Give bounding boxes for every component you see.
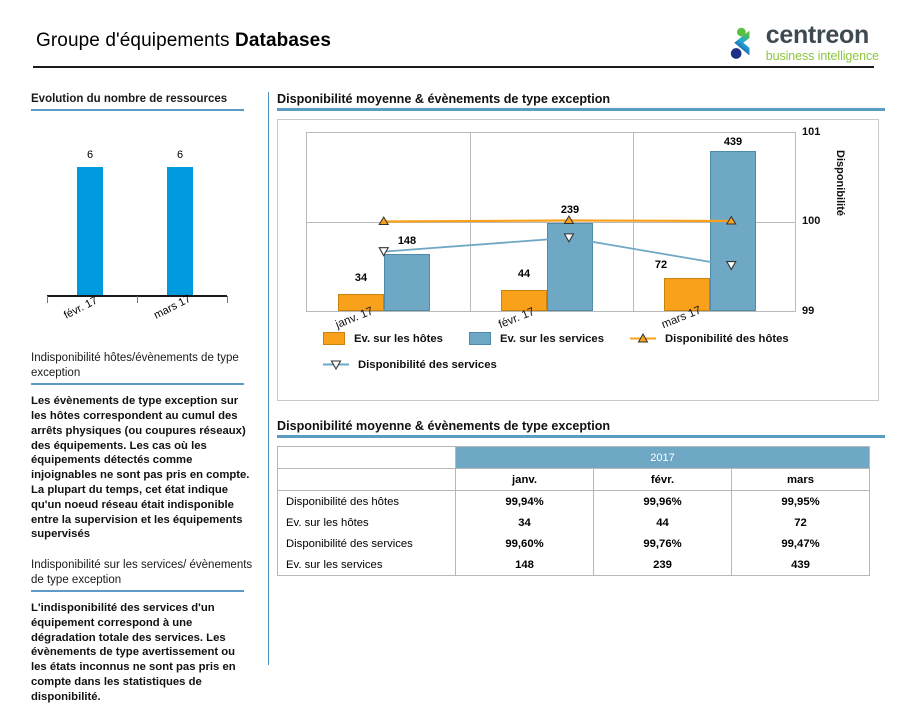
resources-evolution-chart: 6 6 févr. 17 mars 17 xyxy=(0,125,262,335)
chart-section-title: Disponibilité moyenne & évènements de ty… xyxy=(277,92,897,106)
hosts-panel-body: Les évènements de type exception sur les… xyxy=(0,394,262,542)
table-cell: 99,95% xyxy=(732,491,870,513)
table-header-year-row: 2017 xyxy=(278,447,870,469)
legend-label-hosts-availability: Disponibilité des hôtes xyxy=(665,333,789,345)
table-header-month-row: janv. févr. mars xyxy=(278,469,870,491)
bar-hosts-mars xyxy=(664,278,710,311)
table-row: Ev. sur les services 148 239 439 xyxy=(278,554,870,576)
resources-axis-tick xyxy=(47,296,48,303)
legend-marker-triangle-up-icon xyxy=(630,332,656,345)
bar-label-hosts-mars: 72 xyxy=(636,259,686,271)
table-col-mars: mars xyxy=(732,469,870,491)
resources-xlabel-fevr: févr. 17 xyxy=(62,295,100,322)
table-row: Disponibilité des services 99,60% 99,76%… xyxy=(278,533,870,554)
resources-bar-fevr xyxy=(77,167,103,295)
page-title-prefix: Groupe d'équipements xyxy=(36,30,230,51)
header-divider xyxy=(33,66,874,68)
resources-bar-value: 6 xyxy=(160,149,200,161)
legend-label-hosts-events: Ev. sur les hôtes xyxy=(354,333,443,345)
bar-label-services-fevr: 239 xyxy=(545,204,595,216)
table-cell: 99,96% xyxy=(594,491,732,513)
page-title: Groupe d'équipements Databases xyxy=(36,30,331,52)
gridline-category-1 xyxy=(470,133,471,311)
table-year-header: 2017 xyxy=(456,447,870,469)
table-section-title: Disponibilité moyenne & évènements de ty… xyxy=(277,419,897,433)
bar-services-fevr xyxy=(547,223,593,311)
legend-row-2: Disponibilité des services xyxy=(323,358,863,371)
bar-services-mars xyxy=(710,151,756,311)
hosts-panel-heading: Indisponibilité hôtes/évènements de type… xyxy=(0,351,262,380)
table-cell: 99,76% xyxy=(594,533,732,554)
marker-hosts-janv-icon xyxy=(379,217,388,224)
table-cell: 439 xyxy=(732,554,870,576)
legend-marker-triangle-down-icon xyxy=(323,358,349,371)
table-head: 2017 janv. févr. mars xyxy=(278,447,870,491)
legend-item-services-events[interactable]: Ev. sur les services xyxy=(469,332,604,345)
table-row: Ev. sur les hôtes 34 44 72 xyxy=(278,512,870,533)
table-cell: 99,94% xyxy=(456,491,594,513)
table-col-fevr: févr. xyxy=(594,469,732,491)
services-panel-heading: Indisponibilité sur les services/ évènem… xyxy=(0,558,262,587)
table-row-label: Disponibilité des services xyxy=(278,533,456,554)
legend-item-hosts-events[interactable]: Ev. sur les hôtes xyxy=(323,332,443,345)
brand-tagline: business intelligence xyxy=(766,50,879,63)
table-corner-cell xyxy=(278,447,456,469)
table-cell: 99,47% xyxy=(732,533,870,554)
bar-label-services-mars: 439 xyxy=(708,136,758,148)
yaxis-tick-100: 100 xyxy=(802,215,820,227)
table-cell: 99,60% xyxy=(456,533,594,554)
table-body: Disponibilité des hôtes 99,94% 99,96% 99… xyxy=(278,491,870,576)
table-cell: 148 xyxy=(456,554,594,576)
services-panel-underline xyxy=(31,590,244,593)
yaxis-title: Disponibilité xyxy=(834,150,846,216)
sidebar: Evolution du nombre de ressources 6 6 fé… xyxy=(0,92,262,705)
main-content: Disponibilité moyenne & évènements de ty… xyxy=(277,92,897,576)
bar-services-janv xyxy=(384,254,430,311)
legend-swatch-hosts-icon xyxy=(323,332,345,345)
page-header: Groupe d'équipements Databases centreon … xyxy=(0,0,907,72)
resources-xlabel-mars: mars 17 xyxy=(152,293,193,322)
availability-chart-card: 34 148 44 239 72 439 xyxy=(277,119,879,401)
availability-table: 2017 janv. févr. mars Disponibilité des … xyxy=(277,446,870,576)
yaxis-tick-101: 101 xyxy=(802,126,820,138)
bar-label-hosts-fevr: 44 xyxy=(499,268,549,280)
table-cell: 44 xyxy=(594,512,732,533)
legend-row-1: Ev. sur les hôtes Ev. sur les services D… xyxy=(323,332,863,345)
hosts-panel-underline xyxy=(31,383,244,386)
centreon-logo: centreon business intelligence xyxy=(720,20,879,66)
bar-label-services-janv: 148 xyxy=(382,235,432,247)
legend-label-services-events: Ev. sur les services xyxy=(500,333,604,345)
table-cell: 239 xyxy=(594,554,732,576)
brand-wordmark: centreon business intelligence xyxy=(766,23,879,63)
resources-axis-tick xyxy=(137,296,138,303)
legend-item-services-availability[interactable]: Disponibilité des services xyxy=(323,358,497,371)
resources-panel-underline xyxy=(31,109,244,112)
table-cell: 72 xyxy=(732,512,870,533)
table-row-label: Disponibilité des hôtes xyxy=(278,491,456,513)
resources-axis-tick xyxy=(227,296,228,303)
brand-name: centreon xyxy=(766,23,879,48)
page-title-group-name: Databases xyxy=(235,30,331,51)
legend-swatch-services-icon xyxy=(469,332,491,345)
bar-label-hosts-janv: 34 xyxy=(336,272,386,284)
resources-bar-mars xyxy=(167,167,193,295)
resources-bar-value: 6 xyxy=(70,149,110,161)
column-divider xyxy=(268,92,269,665)
gridline-category-2 xyxy=(633,133,634,311)
table-corner-cell-2 xyxy=(278,469,456,491)
legend-label-services-availability: Disponibilité des services xyxy=(358,359,497,371)
chart-legend: Ev. sur les hôtes Ev. sur les services D… xyxy=(323,332,863,384)
table-row: Disponibilité des hôtes 99,94% 99,96% 99… xyxy=(278,491,870,513)
centreon-c-mark-icon xyxy=(720,24,758,62)
chart-section-underline xyxy=(277,108,885,111)
yaxis-tick-99: 99 xyxy=(802,305,814,317)
table-section-underline xyxy=(277,435,885,438)
table-section: Disponibilité moyenne & évènements de ty… xyxy=(277,419,897,576)
resources-panel-heading: Evolution du nombre de ressources xyxy=(0,92,262,107)
table-col-janv: janv. xyxy=(456,469,594,491)
table-row-label: Ev. sur les hôtes xyxy=(278,512,456,533)
legend-item-hosts-availability[interactable]: Disponibilité des hôtes xyxy=(630,332,789,345)
chart-plot-area: 34 148 44 239 72 439 xyxy=(306,132,796,312)
table-row-label: Ev. sur les services xyxy=(278,554,456,576)
table-cell: 34 xyxy=(456,512,594,533)
services-panel-body: L'indisponibilité des services d'un équi… xyxy=(0,601,262,705)
